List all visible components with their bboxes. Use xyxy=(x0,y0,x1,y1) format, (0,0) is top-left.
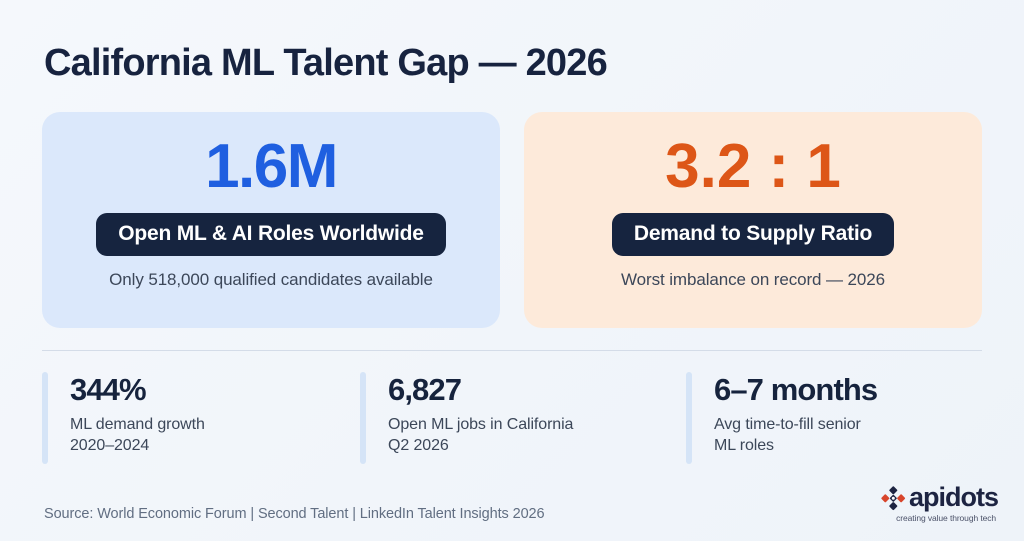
stat-value: 6,827 xyxy=(388,374,573,407)
hero-card-open-roles: 1.6M Open ML & AI Roles Worldwide Only 5… xyxy=(42,112,500,328)
hero-pill-label: Open ML & AI Roles Worldwide xyxy=(96,213,446,256)
hero-card-row: 1.6M Open ML & AI Roles Worldwide Only 5… xyxy=(42,112,982,328)
hero-card-demand-supply-ratio: 3.2 : 1 Demand to Supply Ratio Worst imb… xyxy=(524,112,982,328)
stat-label-line2: ML roles xyxy=(714,435,877,456)
stat-value: 344% xyxy=(70,374,205,407)
stat-value: 6–7 months xyxy=(714,374,877,407)
brand-logo-tagline: creating value through tech xyxy=(896,513,996,523)
hero-figure-value: 1.6M xyxy=(205,134,337,199)
page-title: California ML Talent Gap — 2026 xyxy=(44,42,607,85)
stat-label: Avg time-to-fill senior ML roles xyxy=(714,414,877,456)
stat-label-line1: Avg time-to-fill senior xyxy=(714,416,861,433)
brand-logo-wordmark: apidots xyxy=(909,484,998,511)
brand-logo-top: apidots xyxy=(880,484,998,511)
brand-logo: apidots creating value through tech xyxy=(880,484,998,523)
stat-label-line2: 2020–2024 xyxy=(70,435,205,456)
stat-label-line1: Open ML jobs in California xyxy=(388,416,573,433)
stat-accent-bar xyxy=(360,372,366,464)
hero-subtext: Only 518,000 qualified candidates availa… xyxy=(109,270,433,290)
stat-item-ml-demand-growth: 344% ML demand growth 2020–2024 xyxy=(42,372,360,472)
stat-label: Open ML jobs in California Q2 2026 xyxy=(388,414,573,456)
stat-body: 6–7 months Avg time-to-fill senior ML ro… xyxy=(714,372,877,456)
hero-pill-label: Demand to Supply Ratio xyxy=(612,213,894,256)
infographic-canvas: California ML Talent Gap — 2026 1.6M Ope… xyxy=(0,0,1024,541)
source-citation: Source: World Economic Forum | Second Ta… xyxy=(44,506,544,522)
stat-body: 344% ML demand growth 2020–2024 xyxy=(70,372,205,456)
stat-accent-bar xyxy=(42,372,48,464)
stat-strip: 344% ML demand growth 2020–2024 6,827 Op… xyxy=(42,372,982,472)
stat-item-avg-time-to-fill: 6–7 months Avg time-to-fill senior ML ro… xyxy=(686,372,982,472)
diamond-cluster-icon xyxy=(880,485,906,511)
stat-body: 6,827 Open ML jobs in California Q2 2026 xyxy=(388,372,573,456)
stat-label: ML demand growth 2020–2024 xyxy=(70,414,205,456)
section-divider xyxy=(42,350,982,351)
stat-accent-bar xyxy=(686,372,692,464)
stat-label-line2: Q2 2026 xyxy=(388,435,573,456)
hero-subtext: Worst imbalance on record — 2026 xyxy=(621,270,885,290)
stat-item-open-ml-jobs-california: 6,827 Open ML jobs in California Q2 2026 xyxy=(360,372,686,472)
stat-label-line1: ML demand growth xyxy=(70,416,205,433)
hero-figure-value: 3.2 : 1 xyxy=(665,134,841,199)
